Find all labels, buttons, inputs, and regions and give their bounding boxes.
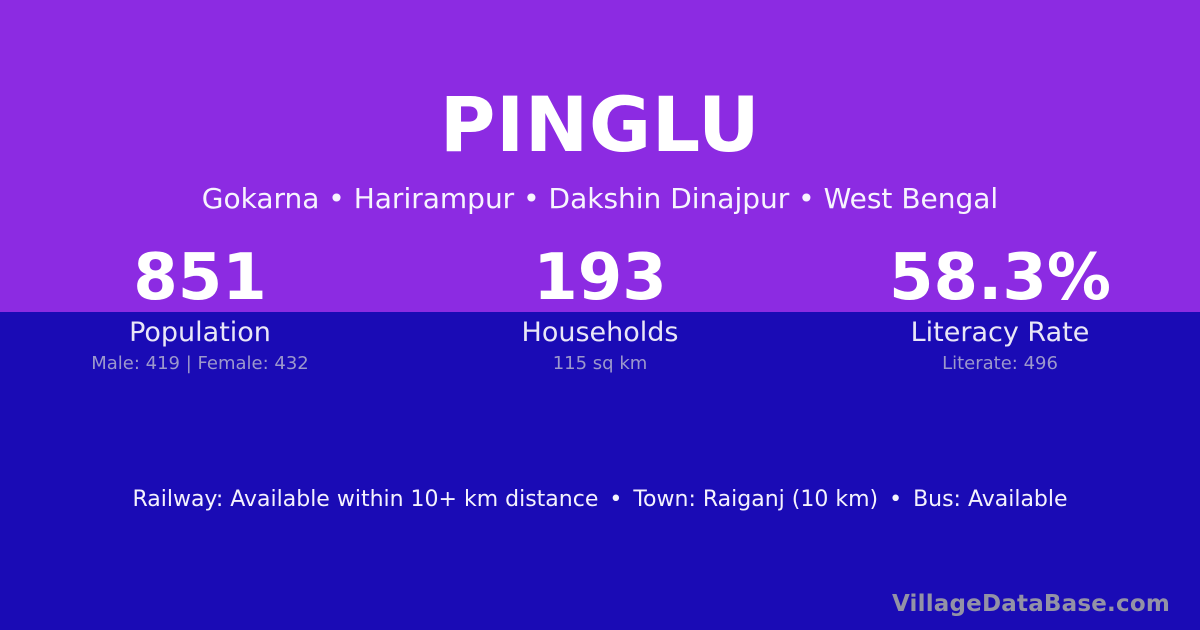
location-breadcrumb: Gokarna • Harirampur • Dakshin Dinajpur … xyxy=(0,181,1200,217)
amenity-separator: • xyxy=(878,485,913,515)
stat-value: 193 xyxy=(400,244,800,312)
amenity-separator: • xyxy=(598,485,633,515)
stats-row: 851 Population Male: 419 | Female: 432 1… xyxy=(0,244,1200,384)
card-content: PINGLU Gokarna • Harirampur • Dakshin Di… xyxy=(0,0,1200,630)
site-watermark: VillageDataBase.com xyxy=(892,589,1170,619)
amenity-bus: Bus: Available xyxy=(913,487,1067,512)
amenity-town: Town: Raiganj (10 km) xyxy=(633,487,878,512)
village-title: PINGLU xyxy=(0,82,1200,168)
stat-value: 58.3% xyxy=(800,244,1200,312)
stat-label: Population xyxy=(0,316,400,350)
stat-label: Households xyxy=(400,316,800,350)
stat-sublabel: Male: 419 | Female: 432 xyxy=(0,352,400,376)
stat-label: Literacy Rate xyxy=(800,316,1200,350)
amenities-strip: Railway: Available within 10+ km distanc… xyxy=(0,485,1200,515)
stat-population: 851 Population Male: 419 | Female: 432 xyxy=(0,244,400,384)
stat-literacy-rate: 58.3% Literacy Rate Literate: 496 xyxy=(800,244,1200,384)
stat-sublabel: Literate: 496 xyxy=(800,352,1200,376)
stat-value: 851 xyxy=(0,244,400,312)
stat-households: 193 Households 115 sq km xyxy=(400,244,800,384)
village-info-card: PINGLU Gokarna • Harirampur • Dakshin Di… xyxy=(0,0,1200,630)
amenity-railway: Railway: Available within 10+ km distanc… xyxy=(132,487,598,512)
stat-sublabel: 115 sq km xyxy=(400,352,800,376)
